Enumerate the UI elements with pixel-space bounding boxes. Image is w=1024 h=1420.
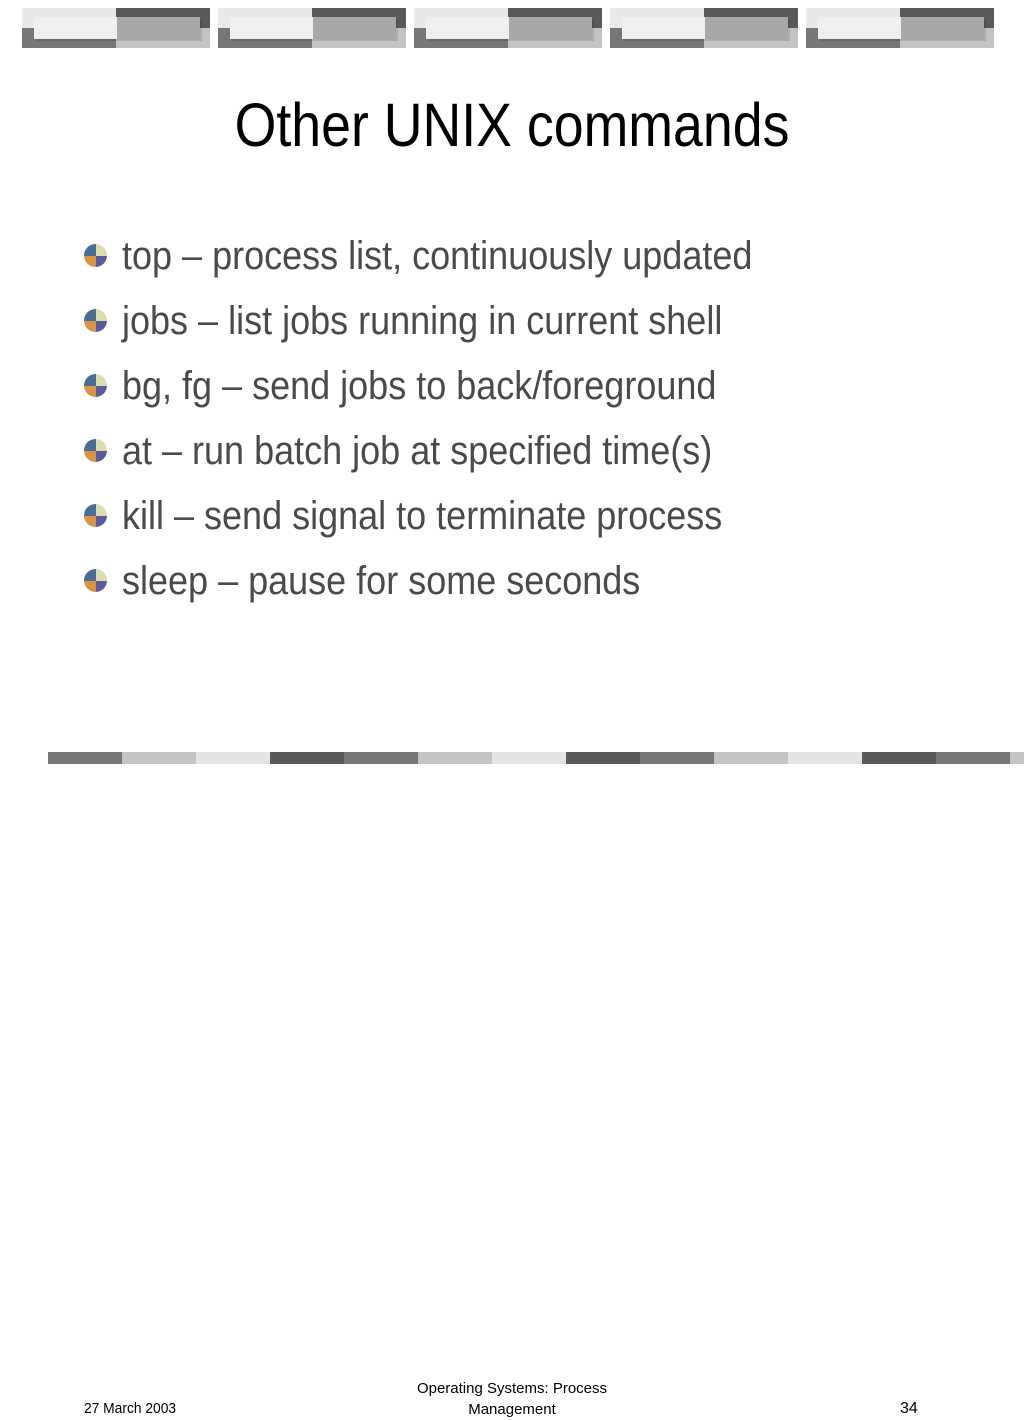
bullet-quadrant [84, 321, 96, 333]
page-title: Other UNIX commands [61, 93, 962, 157]
band-bar-right [705, 17, 788, 39]
strip-block-left [492, 752, 566, 764]
footer: 27 March 2003 Operating Systems: Process… [0, 688, 1024, 738]
bullet-item: sleep – pause for some seconds [80, 553, 980, 618]
strip-block-left [640, 752, 714, 764]
bullet-quadrant [96, 374, 108, 386]
bullet-quadrant [84, 256, 96, 268]
bullet-quadrant [84, 451, 96, 463]
band-bar [818, 17, 984, 39]
bullet-quadrant [96, 321, 108, 333]
band-bar [34, 17, 200, 39]
bullet-quadrant [96, 256, 108, 268]
bullet-quadrant [96, 516, 108, 528]
four-quadrant-circle-bullet-icon [84, 569, 107, 592]
bottom-strip-unit [492, 752, 640, 764]
band-bar [230, 17, 396, 39]
bullet-quadrant [84, 504, 96, 516]
strip-block-right [1010, 752, 1024, 764]
bottom-strip-unit [344, 752, 492, 764]
bullet-quadrant [96, 309, 108, 321]
top-band-unit [22, 8, 210, 48]
four-quadrant-circle-bullet-icon [84, 309, 107, 332]
footer-page-number: 34 [900, 1400, 950, 1418]
band-bar-left [622, 17, 705, 39]
four-quadrant-circle-bullet-icon [84, 374, 107, 397]
bullet-quadrant [84, 581, 96, 593]
bullet-quadrant [96, 451, 108, 463]
footer-subject-line-2: Management [312, 1399, 712, 1420]
bullet-item: jobs – list jobs running in current shel… [80, 293, 980, 358]
bottom-strip-unit [936, 752, 1024, 764]
strip-block-left [196, 752, 270, 764]
bullet-item-label: kill – send signal to terminate process [122, 488, 722, 544]
bottom-strip-unit [640, 752, 788, 764]
bullet-item: bg, fg – send jobs to back/foreground [80, 358, 980, 423]
bullet-quadrant [96, 569, 108, 581]
bottom-strip-unit [196, 752, 344, 764]
footer-subject-line-1: Operating Systems: Process [312, 1378, 712, 1399]
band-bar-right [509, 17, 592, 39]
bullet-quadrant [84, 439, 96, 451]
bullet-item-label: at – run batch job at specified time(s) [122, 423, 712, 479]
strip-block-left [48, 752, 122, 764]
strip-block-right [270, 752, 344, 764]
bottom-strip-unit [788, 752, 936, 764]
top-band-unit [414, 8, 602, 48]
bullet-quadrant [96, 386, 108, 398]
strip-block-left [344, 752, 418, 764]
bullet-quadrant [84, 386, 96, 398]
bullet-quadrant [96, 439, 108, 451]
strip-block-left [936, 752, 1010, 764]
bullet-item: top – process list, continuously updated [80, 228, 980, 293]
bullet-item-label: jobs – list jobs running in current shel… [122, 293, 722, 349]
top-band-unit [610, 8, 798, 48]
bullet-item: at – run batch job at specified time(s) [80, 423, 980, 488]
top-band-unit [218, 8, 406, 48]
bullet-quadrant [84, 374, 96, 386]
band-bar-left [34, 17, 117, 39]
band-bar-left [426, 17, 509, 39]
bullet-quadrant [96, 244, 108, 256]
top-decorative-band [0, 0, 1024, 56]
bullet-item-label: top – process list, continuously updated [122, 228, 752, 284]
band-bar [622, 17, 788, 39]
bullet-quadrant [96, 581, 108, 593]
band-bar-right [313, 17, 396, 39]
band-bar-right [901, 17, 984, 39]
bullet-item-label: sleep – pause for some seconds [122, 553, 640, 609]
bullet-quadrant [84, 516, 96, 528]
bullet-item-label: bg, fg – send jobs to back/foreground [122, 358, 716, 414]
four-quadrant-circle-bullet-icon [84, 439, 107, 462]
bullet-quadrant [84, 244, 96, 256]
strip-block-left [788, 752, 862, 764]
bullet-item: kill – send signal to terminate process [80, 488, 980, 553]
bullet-quadrant [96, 504, 108, 516]
footer-subject: Operating Systems: Process Management [312, 1378, 712, 1420]
strip-block-right [418, 752, 492, 764]
top-band-unit [806, 8, 994, 48]
bottom-decorative-strip [0, 746, 1024, 768]
band-bar-left [818, 17, 901, 39]
bullet-quadrant [84, 569, 96, 581]
strip-block-right [122, 752, 196, 764]
bullet-list: top – process list, continuously updated… [80, 228, 980, 618]
strip-block-right [714, 752, 788, 764]
bottom-strip-unit [48, 752, 196, 764]
band-bar-left [230, 17, 313, 39]
band-bar-right [117, 17, 200, 39]
bullet-quadrant [84, 309, 96, 321]
four-quadrant-circle-bullet-icon [84, 244, 107, 267]
strip-block-right [862, 752, 936, 764]
band-bar [426, 17, 592, 39]
footer-date: 27 March 2003 [84, 1400, 176, 1417]
strip-block-right [566, 752, 640, 764]
four-quadrant-circle-bullet-icon [84, 504, 107, 527]
